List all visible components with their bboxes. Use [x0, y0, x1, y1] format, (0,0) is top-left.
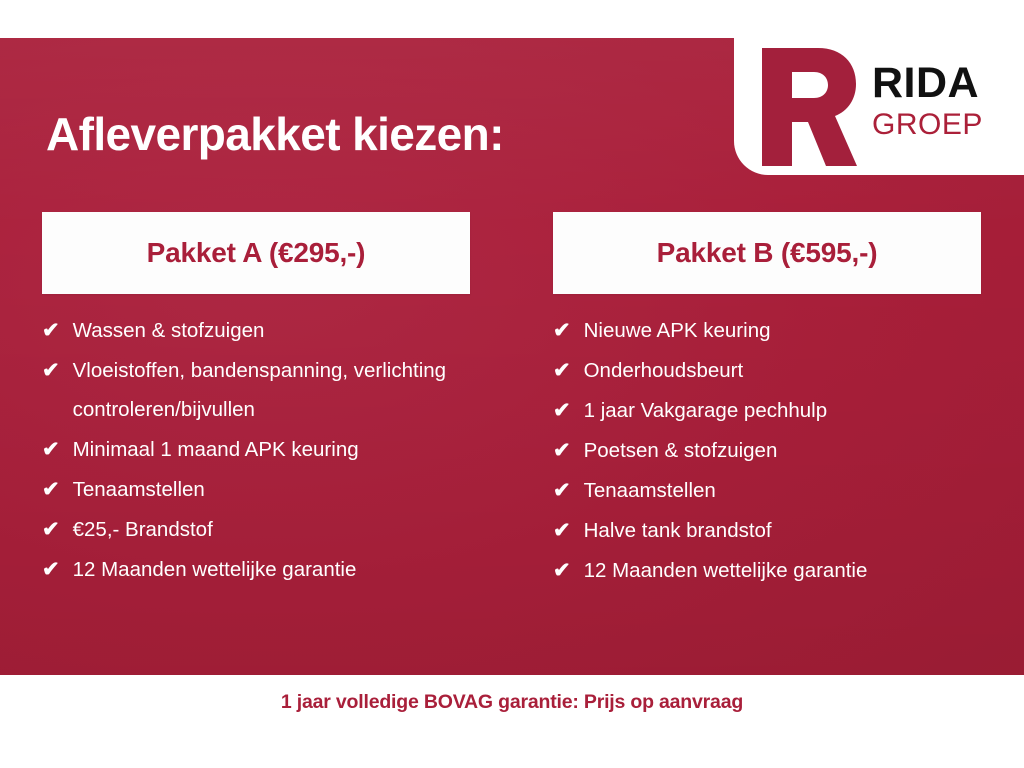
- check-icon: ✔: [42, 550, 60, 589]
- check-icon: ✔: [553, 311, 571, 350]
- package-b-feature-list: ✔ Nieuwe APK keuring ✔ Onderhoudsbeurt ✔…: [553, 311, 981, 590]
- list-item: ✔ Onderhoudsbeurt: [553, 351, 981, 390]
- package-b-title: Pakket B (€595,-): [657, 237, 878, 269]
- packages-container: Pakket A (€295,-) ✔ Wassen & stofzuigen …: [0, 212, 1024, 591]
- list-item: ✔ Poetsen & stofzuigen: [553, 431, 981, 470]
- package-a-title: Pakket A (€295,-): [147, 237, 366, 269]
- feature-label: €25,- Brandstof: [73, 510, 470, 549]
- package-card-b: Pakket B (€595,-) ✔ Nieuwe APK keuring ✔…: [553, 212, 981, 591]
- check-icon: ✔: [553, 351, 571, 390]
- feature-label: 12 Maanden wettelijke garantie: [73, 550, 470, 589]
- feature-label: Vloeistoffen, bandenspanning, verlichtin…: [73, 351, 470, 429]
- feature-label: Wassen & stofzuigen: [73, 311, 470, 350]
- package-a-header[interactable]: Pakket A (€295,-): [42, 212, 470, 294]
- package-b-header[interactable]: Pakket B (€595,-): [553, 212, 981, 294]
- list-item: ✔ Wassen & stofzuigen: [42, 311, 470, 350]
- list-item: ✔ 12 Maanden wettelijke garantie: [42, 550, 470, 589]
- list-item: ✔ €25,- Brandstof: [42, 510, 470, 549]
- footer-bar: 1 jaar volledige BOVAG garantie: Prijs o…: [0, 675, 1024, 768]
- list-item: ✔ Tenaamstellen: [42, 470, 470, 509]
- feature-label: Tenaamstellen: [73, 470, 470, 509]
- logo-secondary-text: GROEP: [872, 110, 983, 140]
- logo-wordmark: RIDA GROEP: [872, 62, 983, 140]
- list-item: ✔ 12 Maanden wettelijke garantie: [553, 551, 981, 590]
- list-item: ✔ 1 jaar Vakgarage pechhulp: [553, 391, 981, 430]
- feature-label: Poetsen & stofzuigen: [584, 431, 981, 470]
- list-item: ✔ Minimaal 1 maand APK keuring: [42, 430, 470, 469]
- feature-label: Minimaal 1 maand APK keuring: [73, 430, 470, 469]
- feature-label: Halve tank brandstof: [584, 511, 981, 550]
- list-item: ✔ Nieuwe APK keuring: [553, 311, 981, 350]
- list-item: ✔ Halve tank brandstof: [553, 511, 981, 550]
- feature-label: Onderhoudsbeurt: [584, 351, 981, 390]
- rida-r-monogram-icon: [756, 46, 860, 168]
- feature-label: 1 jaar Vakgarage pechhulp: [584, 391, 981, 430]
- feature-label: Tenaamstellen: [584, 471, 981, 510]
- brand-logo: RIDA GROEP: [734, 38, 1024, 175]
- check-icon: ✔: [42, 311, 60, 350]
- check-icon: ✔: [553, 471, 571, 510]
- page-title: Afleverpakket kiezen:: [46, 107, 504, 161]
- footer-note: 1 jaar volledige BOVAG garantie: Prijs o…: [281, 691, 743, 714]
- check-icon: ✔: [42, 430, 60, 469]
- list-item: ✔ Vloeistoffen, bandenspanning, verlicht…: [42, 351, 470, 429]
- feature-label: 12 Maanden wettelijke garantie: [584, 551, 981, 590]
- package-card-a: Pakket A (€295,-) ✔ Wassen & stofzuigen …: [42, 212, 470, 591]
- check-icon: ✔: [553, 511, 571, 550]
- check-icon: ✔: [42, 470, 60, 509]
- package-a-feature-list: ✔ Wassen & stofzuigen ✔ Vloeistoffen, ba…: [42, 311, 470, 589]
- check-icon: ✔: [553, 551, 571, 590]
- check-icon: ✔: [42, 351, 60, 390]
- feature-label: Nieuwe APK keuring: [584, 311, 981, 350]
- check-icon: ✔: [553, 431, 571, 470]
- slide-root: Afleverpakket kiezen: RIDA GROEP Pakket …: [0, 0, 1024, 768]
- check-icon: ✔: [553, 391, 571, 430]
- check-icon: ✔: [42, 510, 60, 549]
- list-item: ✔ Tenaamstellen: [553, 471, 981, 510]
- logo-primary-text: RIDA: [872, 62, 983, 105]
